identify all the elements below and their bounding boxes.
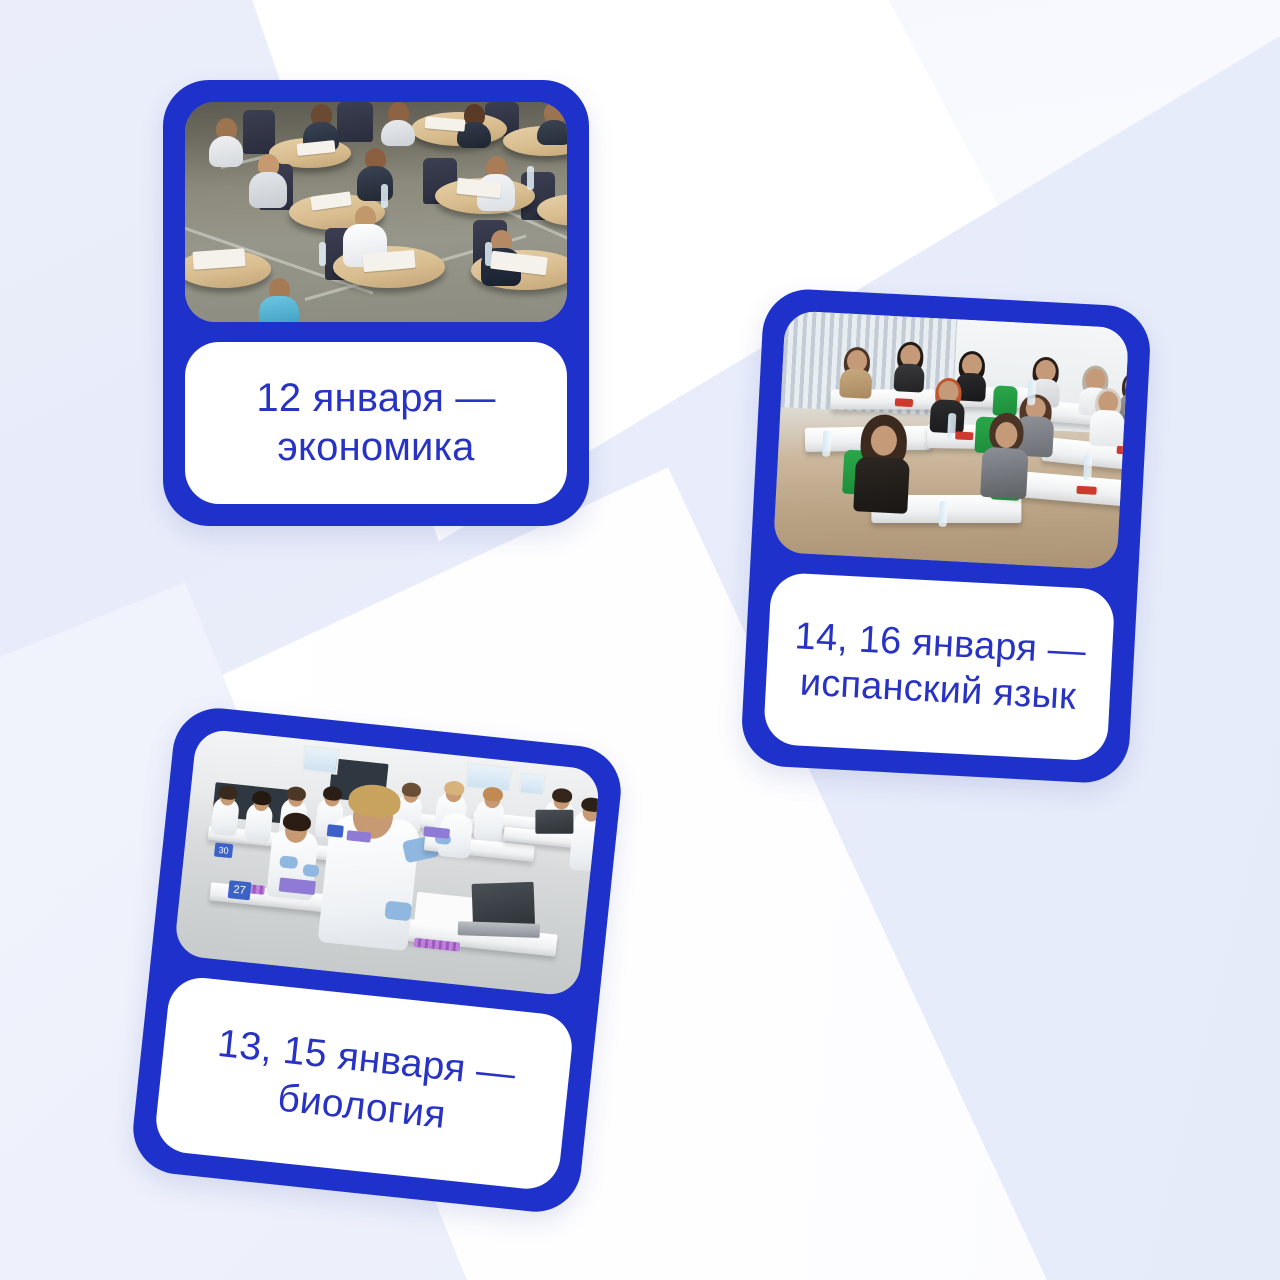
desk-number-tag-30: 30 <box>214 842 233 858</box>
biology-lab-white-coats-photo: 27 30 <box>173 728 601 997</box>
poster-canvas: 12 января — экономика <box>0 0 1280 1280</box>
card-economics[interactable]: 12 января — экономика <box>163 80 589 526</box>
card-label-text: 12 января — экономика <box>256 374 495 472</box>
classroom-green-chairs-photo <box>773 310 1129 570</box>
card-label-economics: 12 января — экономика <box>185 342 567 504</box>
card-label-text: 14, 16 января — испанский язык <box>791 613 1087 721</box>
desk-number-tag-27: 27 <box>228 880 252 900</box>
card-label-text: 13, 15 января — биология <box>210 1020 517 1146</box>
card-spanish[interactable]: 14, 16 января — испанский язык <box>740 287 1152 785</box>
exam-hall-round-tables-photo <box>185 102 567 322</box>
desk-number-tag-extra <box>327 824 344 838</box>
card-label-biology: 13, 15 января — биология <box>153 975 575 1192</box>
card-biology[interactable]: 27 30 13, 15 января — биология <box>129 704 625 1216</box>
card-label-spanish: 14, 16 января — испанский язык <box>763 572 1116 762</box>
